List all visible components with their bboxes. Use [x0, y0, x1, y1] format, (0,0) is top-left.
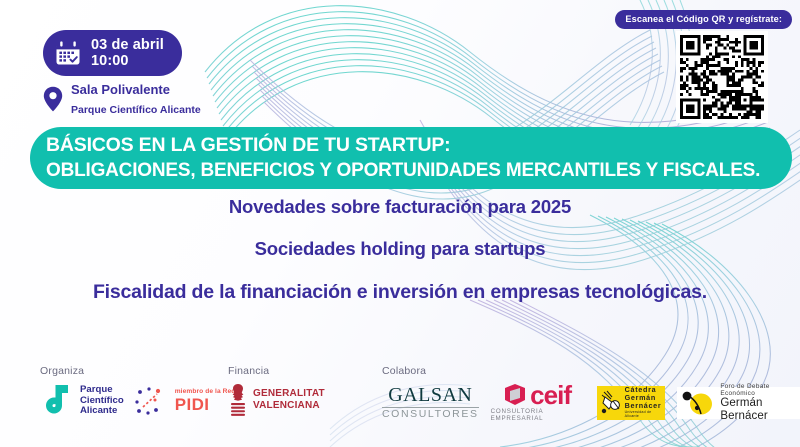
topic-list: Novedades sobre facturación para 2025 So… — [0, 196, 800, 304]
catedra-line3: Bernácer — [625, 402, 663, 410]
topic-item-3: Fiscalidad de la financiación e inversió… — [0, 281, 800, 304]
gva-line1: GENERALITAT — [253, 388, 325, 399]
location-place: Parque Científico Alicante — [71, 104, 201, 116]
sponsor-group-colabora: Colabora GALSAN CONSULTORES — [382, 365, 800, 422]
foro-line1: Foro de Debate Económico — [720, 383, 800, 397]
generalitat-crest-icon — [228, 383, 248, 417]
logo-parque-cientifico-alicante: Parque Científico Alicante — [40, 383, 124, 419]
logo-ceif: ceif CONSULTORIA EMPRESARIAL — [491, 383, 585, 422]
ceif-wordmark: ceif — [530, 384, 571, 407]
galsan-name: GALSAN — [382, 385, 479, 405]
pidi-dots-icon — [134, 385, 170, 417]
galsan-subtitle: CONSULTORES — [382, 409, 479, 421]
catedra-wordmark: Cátedra Germán Bernácer Universidad de A… — [625, 386, 663, 418]
sponsor-heading-colabora: Colabora — [382, 365, 800, 377]
sponsor-heading-organiza: Organiza — [40, 365, 235, 377]
event-poster: 03 de abril 10:00 Sala Polivalente Parqu… — [0, 0, 800, 447]
parque-cientifico-mark-icon — [40, 383, 74, 419]
sponsor-group-financia: Financia — [228, 365, 325, 417]
location-block: Sala Polivalente Parque Científico Alica… — [43, 80, 201, 118]
date-time-badge: 03 de abril 10:00 — [43, 30, 182, 76]
sponsor-strip: Organiza Parque Científico Alicante — [0, 357, 800, 447]
event-title-bar: BÁSICOS EN LA GESTIÓN DE TU STARTUP: OBL… — [30, 127, 792, 189]
location-venue: Sala Polivalente — [71, 82, 170, 97]
logo-catedra-german-bernacer: Cátedra Germán Bernácer Universidad de A… — [597, 386, 666, 420]
location-text: Sala Polivalente Parque Científico Alica… — [71, 80, 201, 118]
event-time: 10:00 — [91, 53, 129, 69]
catedra-university: Universidad de Alicante — [625, 411, 663, 419]
catedra-emblem-icon — [600, 389, 622, 417]
foro-emblem-icon — [681, 390, 715, 416]
qr-code-icon[interactable] — [676, 31, 768, 123]
map-pin-icon — [43, 86, 63, 112]
generalitat-wordmark: GENERALITAT VALENCIANA — [253, 388, 325, 413]
foro-line2: Germán Bernácer — [720, 397, 800, 422]
topic-item-2: Sociedades holding para startups — [0, 238, 800, 260]
event-title-line2: OBLIGACIONES, BENEFICIOS Y OPORTUNIDADES… — [46, 158, 792, 183]
sponsor-heading-financia: Financia — [228, 365, 325, 377]
foro-wordmark: Foro de Debate Económico Germán Bernácer — [720, 383, 800, 422]
pidi-wordmark: miembro de la Red PIDI — [175, 389, 236, 414]
pidi-name: PIDI — [175, 396, 236, 414]
topic-item-1: Novedades sobre facturación para 2025 — [0, 196, 800, 218]
logo-generalitat-valenciana: GENERALITAT VALENCIANA — [228, 383, 325, 417]
sponsor-group-organiza: Organiza Parque Científico Alicante — [40, 365, 235, 419]
date-time-text: 03 de abril 10:00 — [91, 37, 164, 69]
logo-pidi: miembro de la Red PIDI — [134, 385, 236, 417]
calendar-icon — [55, 40, 81, 66]
qr-label: Escanea el Código QR y regístrate: — [615, 10, 792, 29]
logo-foro-debate-economico: Foro de Debate Económico Germán Bernácer — [677, 387, 800, 419]
pca-line2: Científico — [80, 395, 124, 406]
gva-line2: VALENCIANA — [253, 400, 320, 411]
ceif-cube-icon — [504, 383, 526, 407]
pca-line1: Parque — [80, 384, 113, 395]
parque-cientifico-wordmark: Parque Científico Alicante — [80, 385, 124, 417]
pca-line3: Alicante — [80, 405, 117, 416]
event-title-line1: BÁSICOS EN LA GESTIÓN DE TU STARTUP: — [46, 133, 792, 159]
logo-galsan-consultores: GALSAN CONSULTORES — [382, 385, 479, 421]
ceif-subtitle: CONSULTORIA EMPRESARIAL — [491, 408, 585, 422]
event-date: 03 de abril — [91, 37, 164, 53]
